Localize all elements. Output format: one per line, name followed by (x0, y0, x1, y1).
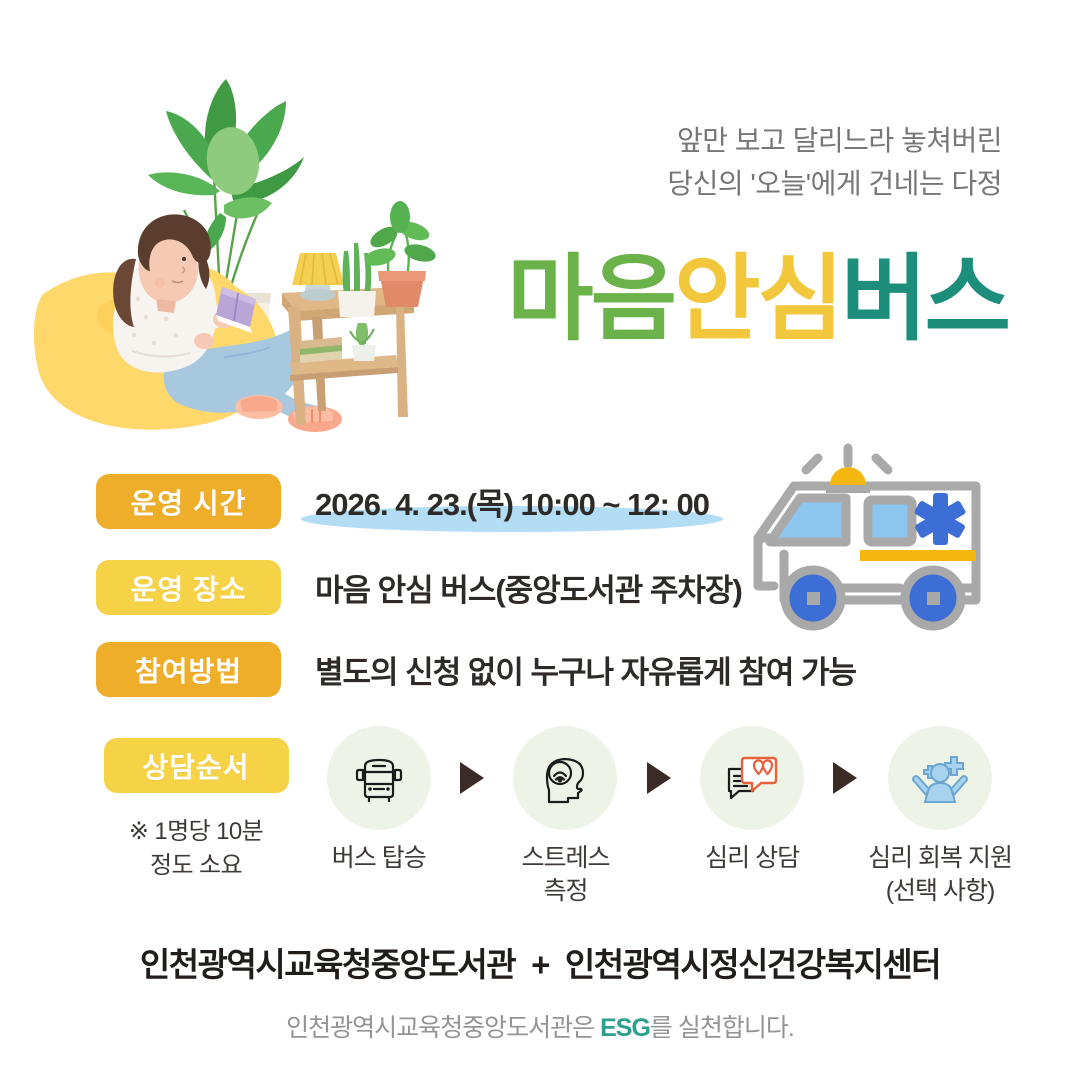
info-row-location: 운영 장소 마음 안심 버스(중앙도서관 주차장) (96, 560, 742, 615)
tagline: 앞만 보고 달리느라 놓쳐버린 당신의 '오늘'에게 건네는 다정 (667, 120, 1002, 205)
title-part-3: 버스 (841, 246, 1008, 351)
hero-section: 앞만 보고 달리느라 놓쳐버린 당신의 '오늘'에게 건네는 다정 마음안심버스 (0, 0, 1080, 445)
step-icon-circle (700, 726, 804, 830)
head-stress-icon (536, 749, 594, 807)
process-left-column: 상담순서 ※ 1명당 10분 정도 소요 (96, 738, 296, 883)
process-note-line-2: 정도 소요 (96, 849, 296, 883)
org-left: 인천광역시교육청중앙도서관 (140, 946, 515, 983)
organizations: 인천광역시교육청중앙도서관+인천광역시정신건강복지센터 (0, 938, 1080, 986)
process-arrow-1 (448, 726, 497, 794)
title-part-2: 안심 (674, 246, 841, 351)
process-arrow-2 (634, 726, 683, 794)
org-right: 인천광역시정신건강복지센터 (565, 946, 940, 983)
step-label: 심리 상담 (705, 842, 799, 875)
value-participation: 별도의 신청 없이 누구나 자유롭게 참여 가능 (315, 647, 856, 692)
footer: 인천광역시교육청중앙도서관+인천광역시정신건강복지센터 인천광역시교육청중앙도서… (0, 938, 1080, 1044)
step-icon-circle (513, 726, 617, 830)
badge-operating-time: 운영 시간 (96, 474, 281, 529)
esg-prefix: 인천광역시교육청중앙도서관은 (286, 1014, 600, 1042)
info-row-participation: 참여방법 별도의 신청 없이 누구나 자유롭게 참여 가능 (96, 642, 856, 697)
step-icon-circle (888, 726, 992, 830)
info-rows: 운영 시간 2026. 4. 23.(목) 10:00 ~ 12: 00 운영 … (0, 462, 1080, 722)
step-icon-circle (327, 726, 431, 830)
tagline-line-2: 당신의 '오늘'에게 건네는 다정 (667, 163, 1002, 206)
process-steps: 버스 탑승 스트레스 (310, 726, 1010, 921)
bus-icon (351, 750, 407, 806)
recovery-person-icon (911, 749, 969, 807)
woman-reading-on-beanbag-with-plants-illustration (24, 55, 454, 445)
process-step-stress-measurement: 스트레스 측정 (497, 726, 635, 908)
process-note-line-1: ※ 1명당 10분 (96, 815, 296, 849)
speech-bubble-icon (723, 749, 781, 807)
process-note: ※ 1명당 10분 정도 소요 (96, 815, 296, 883)
value-operating-time: 2026. 4. 23.(목) 10:00 ~ 12: 00 (315, 479, 709, 524)
poster-canvas: 앞만 보고 달리느라 놓쳐버린 당신의 '오늘'에게 건네는 다정 마음안심버스 (0, 0, 1080, 1080)
process-step-recovery-support: 심리 회복 지원 (선택 사항) (870, 726, 1010, 908)
process-section: 상담순서 ※ 1명당 10분 정도 소요 (0, 726, 1080, 921)
badge-participation: 참여방법 (96, 642, 281, 697)
esg-statement: 인천광역시교육청중앙도서관은 ESG를 실천합니다. (0, 1008, 1080, 1044)
step-label: 스트레스 측정 (521, 842, 609, 908)
page-title: 마음안심버스 (507, 250, 1008, 349)
process-arrow-3 (821, 726, 870, 794)
esg-suffix: 를 실천합니다. (650, 1014, 794, 1042)
title-part-1: 마음 (507, 246, 674, 351)
esg-keyword: ESG (600, 1014, 650, 1042)
tagline-line-1: 앞만 보고 달리느라 놓쳐버린 (667, 120, 1002, 163)
step-label: 버스 탑승 (332, 842, 426, 875)
badge-consult-order: 상담순서 (104, 738, 289, 793)
step-label: 심리 회복 지원 (선택 사항) (868, 842, 1012, 908)
badge-location: 운영 장소 (96, 560, 281, 615)
org-plus: + (515, 946, 565, 984)
process-step-bus-boarding: 버스 탑승 (310, 726, 448, 875)
process-step-psych-counseling: 심리 상담 (683, 726, 821, 875)
value-location: 마음 안심 버스(중앙도서관 주차장) (315, 565, 742, 610)
info-row-operating-time: 운영 시간 2026. 4. 23.(목) 10:00 ~ 12: 00 (96, 474, 709, 529)
